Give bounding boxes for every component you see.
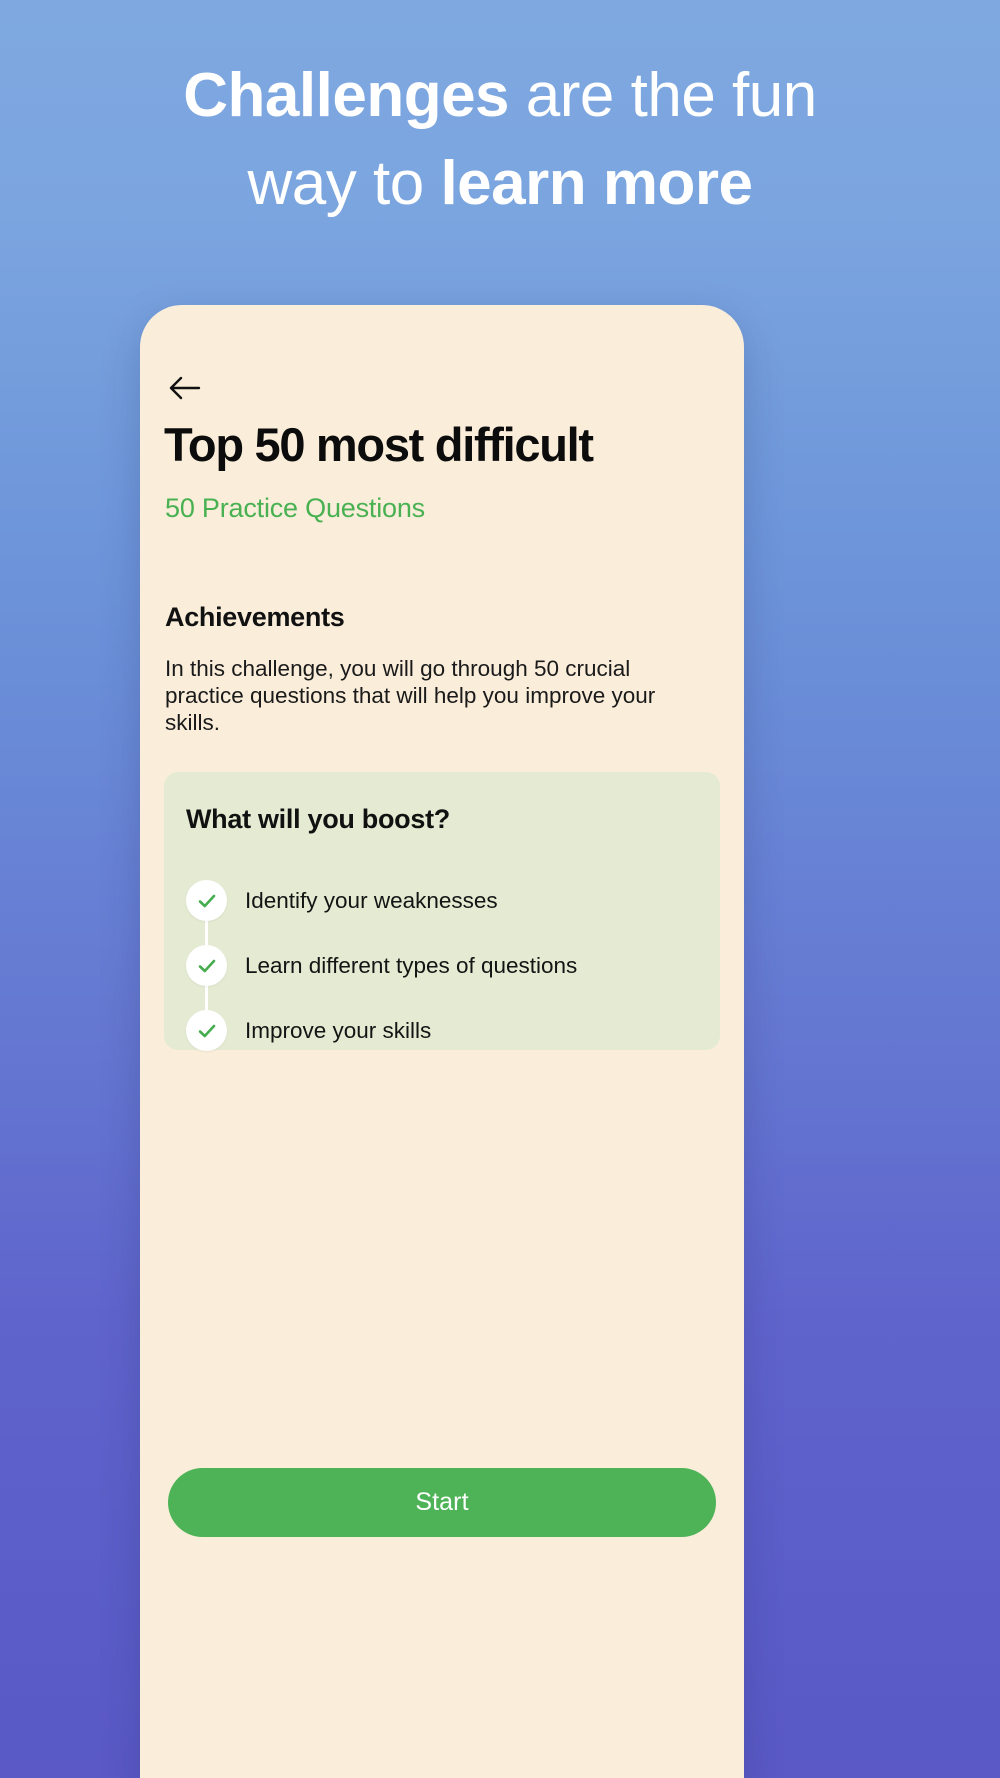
arrow-left-icon [169,375,201,401]
list-item: Identify your weaknesses [186,868,698,933]
back-button[interactable] [156,363,214,413]
list-item: Learn different types of questions [186,933,698,998]
headline-regular-2: way to [248,149,441,218]
page-title: Top 50 most difficult [164,417,734,473]
list-item-label: Improve your skills [245,1018,431,1044]
start-button-label: Start [415,1488,468,1517]
boost-heading: What will you boost? [186,804,450,835]
boost-panel: What will you boost? Identify your weakn… [164,772,720,1050]
headline-bold-1: Challenges [183,61,509,130]
promo-screen: Challenges are the fun way to learn more… [0,0,1000,1778]
headline-regular-1: are the fun [509,61,817,130]
achievements-heading: Achievements [165,602,344,633]
start-button[interactable]: Start [168,1468,716,1537]
check-icon [186,945,227,986]
list-item-label: Learn different types of questions [245,953,577,979]
phone-mockup-card: Top 50 most difficult 50 Practice Questi… [140,305,744,1778]
headline-bold-2: learn more [440,149,752,218]
achievements-description: In this challenge, you will go through 5… [165,655,685,736]
checklist-connector [205,921,208,947]
page-subtitle: 50 Practice Questions [165,493,425,524]
app-screen: Top 50 most difficult 50 Practice Questi… [140,305,744,1778]
checklist-connector [205,986,208,1012]
boost-checklist: Identify your weaknesses Learn different… [186,868,698,1063]
list-item-label: Identify your weaknesses [245,888,498,914]
check-icon [186,880,227,921]
promo-headline: Challenges are the fun way to learn more [0,52,1000,228]
check-icon [186,1010,227,1051]
list-item: Improve your skills [186,998,698,1063]
